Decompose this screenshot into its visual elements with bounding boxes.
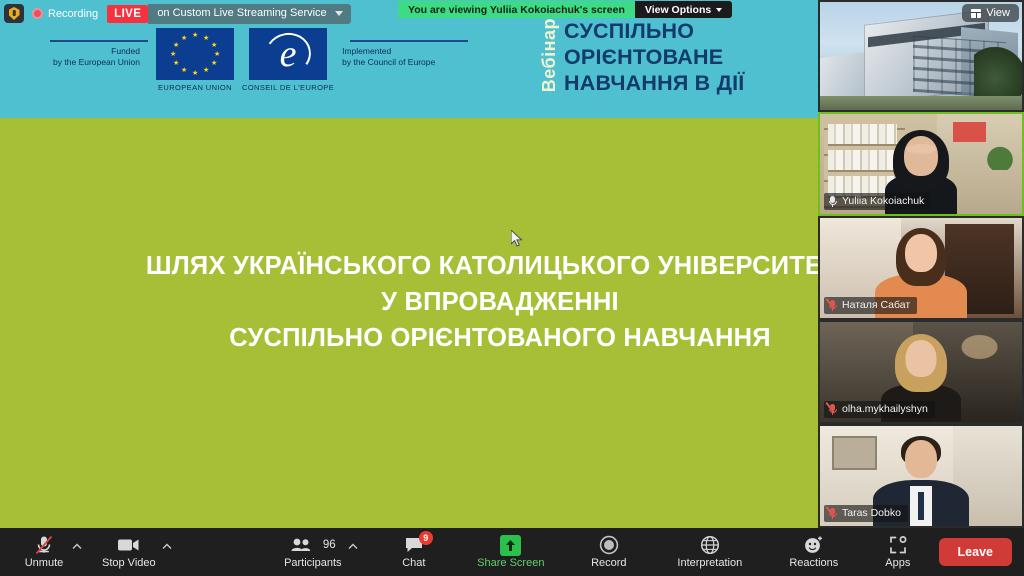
recording-indicator[interactable]: Recording [32,8,98,20]
view-layout-button[interactable]: View [962,4,1019,22]
webinar-title: СУСПІЛЬНО ОРІЄНТОВАНЕ НАВЧАННЯ В ДІЇ [564,18,744,97]
leave-meeting-button[interactable]: Leave [939,538,1012,566]
video-tile-participant[interactable]: Наталя Сабат [818,216,1024,320]
apps-icon [888,535,908,555]
implemented-by-caption: Implementedby the Council of Europe [342,28,452,69]
stop-video-button[interactable]: Stop Video [96,528,162,576]
view-options-button[interactable]: View Options [635,1,732,18]
chevron-down-icon[interactable] [335,11,343,16]
screen-share-notice-bar: You are viewing Yuliia Kokoiachuk's scre… [398,1,732,18]
chat-label: Chat [402,558,425,569]
chevron-up-icon [348,543,358,550]
view-options-label: View Options [645,4,711,16]
grid-view-icon [971,9,981,18]
funded-by-caption: Fundedby the European Union [30,28,140,69]
apps-button[interactable]: Apps [870,528,926,576]
european-union-flag-icon: ★ ★ ★ ★ ★ ★ ★ ★ ★ ★ ★ ★ EUROPEAN UNION [156,28,234,92]
globe-icon [700,535,720,555]
participant-name: olha.mykhailyshyn [842,403,928,415]
participant-name-tag: Наталя Сабат [824,297,917,314]
coe-flag-label: CONSEIL DE L'EUROPE [242,83,334,92]
microphone-muted-icon [828,403,837,415]
webinar-vertical-label: Вебінар [540,18,558,94]
share-screen-icon [500,535,521,555]
video-thumbnail-strip[interactable]: Yuliia Kokoiachuk Наталя Сабат [818,0,1024,528]
share-screen-button[interactable]: Share Screen [468,528,554,576]
stop-video-label: Stop Video [102,558,156,569]
participants-chevron[interactable] [348,528,366,576]
webinar-headline: Вебінар СУСПІЛЬНО ОРІЄНТОВАНЕ НАВЧАННЯ В… [540,18,744,97]
participant-name-tag: Taras Dobko [824,505,908,522]
recording-label: Recording [48,8,98,20]
participants-count: 96 [323,539,336,551]
unmute-label: Unmute [25,558,64,569]
record-circle-icon [599,535,619,555]
chevron-up-icon [72,543,82,550]
unmute-button[interactable]: Unmute [16,528,72,576]
microphone-muted-icon [828,299,837,311]
live-stream-label: on Custom Live Streaming Service [157,7,326,19]
participants-button[interactable]: x 96 Participants [278,528,348,576]
security-shield-icon[interactable] [4,4,24,23]
webinar-title-line-2: ОРІЄНТОВАНЕ [564,44,744,70]
video-camera-icon [117,535,141,555]
zoom-meeting-window: Fundedby the European Union ★ ★ ★ ★ ★ ★ … [0,0,1024,576]
reactions-smiley-icon [803,535,824,555]
microphone-muted-icon [828,507,837,519]
participant-name: Наталя Сабат [842,299,910,311]
audio-settings-chevron[interactable] [72,528,90,576]
reactions-button[interactable]: Reactions [776,528,852,576]
apps-label: Apps [885,558,910,569]
webinar-title-line-1: СУСПІЛЬНО [564,18,744,44]
interpretation-button[interactable]: Interpretation [662,528,758,576]
viewing-notice-label: You are viewing Yuliia Kokoiachuk's scre… [398,1,635,18]
chevron-down-icon [716,8,722,12]
live-badge: LIVE [107,5,148,23]
view-button-label: View [986,7,1010,19]
record-button[interactable]: Record [576,528,642,576]
recording-dot-icon [32,8,43,19]
participant-name: Taras Dobko [842,507,901,519]
video-tile-participant[interactable]: olha.mykhailyshyn [818,320,1024,424]
webinar-title-line-3: НАВЧАННЯ В ДІЇ [564,70,744,96]
participant-name: Yuliia Kokoiachuk [842,195,924,207]
video-settings-chevron[interactable] [162,528,180,576]
meeting-toolbar: Unmute Stop Video [0,528,1024,576]
video-tile-participant[interactable]: Yuliia Kokoiachuk [818,112,1024,216]
chat-button[interactable]: 9 Chat [382,528,446,576]
microphone-muted-icon [35,535,53,555]
donor-logos: Fundedby the European Union ★ ★ ★ ★ ★ ★ … [30,28,472,92]
video-tile-participant[interactable]: Taras Dobko [818,424,1024,528]
eu-flag-label: EUROPEAN UNION [158,83,232,92]
mouse-cursor-icon [511,230,523,248]
chat-unread-badge: 9 [419,531,433,545]
participant-name-tag: Yuliia Kokoiachuk [824,193,931,210]
recording-status-bar: Recording LIVE on Custom Live Streaming … [4,4,351,23]
share-screen-label: Share Screen [477,558,544,569]
chevron-up-icon [162,543,172,550]
participant-name-tag: olha.mykhailyshyn [824,401,935,418]
reactions-label: Reactions [789,558,838,569]
pin-icon [828,195,837,207]
council-of-europe-flag-icon: e CONSEIL DE L'EUROPE [242,28,334,92]
participants-icon: x 96 [290,535,336,555]
chat-bubble-icon: 9 [404,535,424,555]
interpretation-label: Interpretation [677,558,742,569]
live-stream-target[interactable]: on Custom Live Streaming Service [148,4,350,24]
record-label: Record [591,558,626,569]
participants-label: Participants [284,558,341,569]
